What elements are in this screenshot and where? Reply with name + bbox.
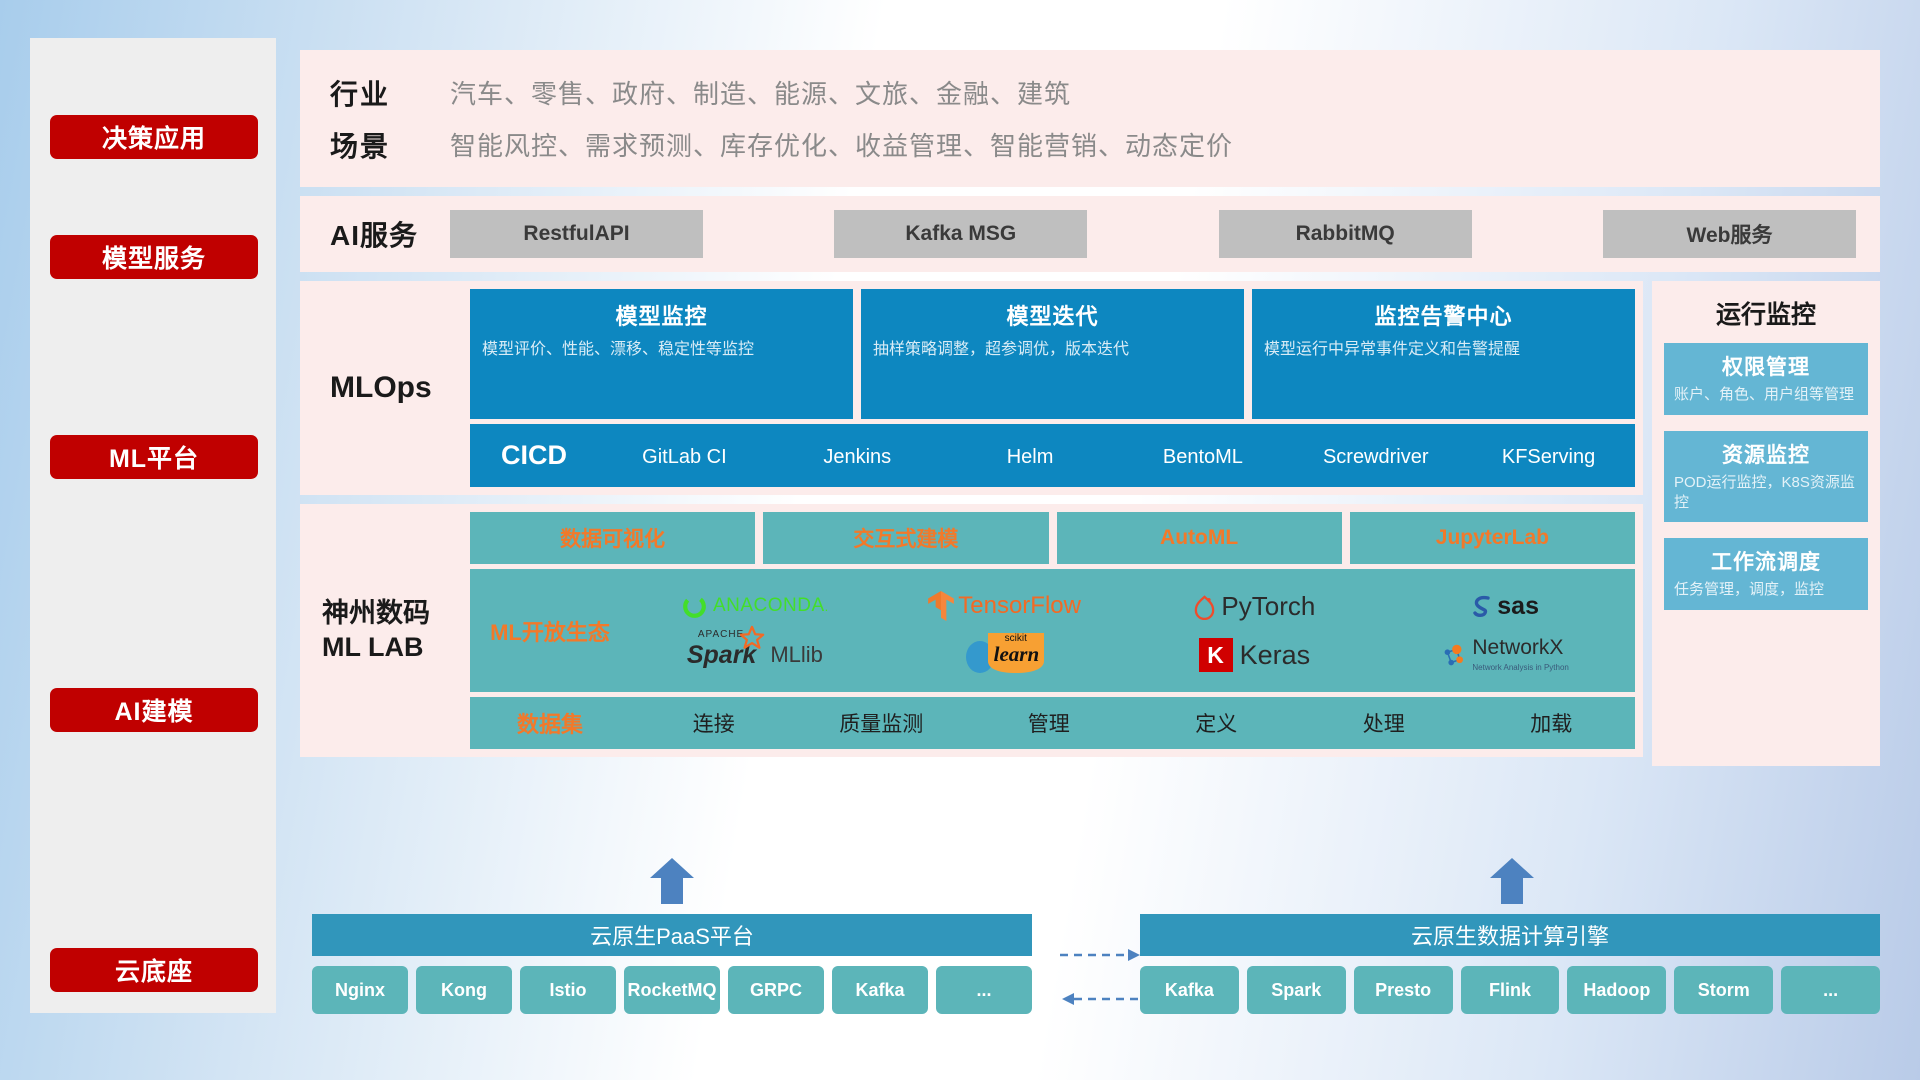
architecture-diagram: 决策应用 模型服务 ML平台 AI建模 云底座 行业 汽车、零售、政府、制造、能… <box>0 0 1920 1080</box>
cicd-item-screwdriver[interactable]: Screwdriver <box>1289 445 1462 467</box>
mlops-card-list: 模型监控 模型评价、性能、漂移、稳定性等监控 模型迭代 抽样策略调整，超参调优，… <box>470 289 1635 419</box>
ai-service-box-kafka-msg[interactable]: Kafka MSG <box>834 210 1087 258</box>
cicd-item-jenkins[interactable]: Jenkins <box>771 445 944 467</box>
cicd-item-helm[interactable]: Helm <box>944 445 1117 467</box>
rail-item-ml-platform[interactable]: ML平台 <box>50 435 258 479</box>
chip-rocketmq[interactable]: RocketMQ <box>624 966 720 1014</box>
ai-service-box-web-service[interactable]: Web服务 <box>1603 210 1856 258</box>
mlops-content: 模型监控 模型评价、性能、漂移、稳定性等监控 模型迭代 抽样策略调整，超参调优，… <box>470 289 1635 487</box>
monitor-card-title: 权限管理 <box>1674 351 1858 381</box>
mlops-card-desc: 抽样策略调整，超参调优，版本迭代 <box>873 339 1232 361</box>
cloud-data-engine-header: 云原生数据计算引擎 <box>1140 914 1880 956</box>
ml-ecosystem-label: ML开放生态 <box>470 615 630 647</box>
chip-presto[interactable]: Presto <box>1354 966 1453 1014</box>
industry-row: 行业 汽车、零售、政府、制造、能源、文旅、金融、建筑 <box>330 67 1880 119</box>
industry-band: 行业 汽车、零售、政府、制造、能源、文旅、金融、建筑 场景 智能风控、需求预测、… <box>300 50 1880 187</box>
ml-lab-tool-automl[interactable]: AutoML <box>1057 512 1342 564</box>
mlops-card-model-iteration[interactable]: 模型迭代 抽样策略调整，超参调优，版本迭代 <box>861 289 1244 419</box>
pytorch-logo-icon: PyTorch <box>1193 591 1315 622</box>
cicd-item-list: GitLab CI Jenkins Helm BentoML Screwdriv… <box>598 445 1635 467</box>
dataset-item-load[interactable]: 加载 <box>1468 708 1636 738</box>
cloud-paas-header: 云原生PaaS平台 <box>312 914 1032 956</box>
industry-label: 行业 <box>330 73 450 113</box>
ai-service-label: AI服务 <box>330 214 450 254</box>
rail-item-cloud-base[interactable]: 云底座 <box>50 948 258 992</box>
tensorflow-logo-icon: TensorFlow <box>928 591 1081 621</box>
mlops-card-model-monitoring[interactable]: 模型监控 模型评价、性能、漂移、稳定性等监控 <box>470 289 853 419</box>
spark-mllib-logo-icon: APACHE Spark MLlib <box>687 641 823 670</box>
monitor-card-desc: POD运行监控，K8S资源监控 <box>1674 473 1858 513</box>
chip-istio[interactable]: Istio <box>520 966 616 1014</box>
ml-lab-content: 数据可视化 交互式建模 AutoML JupyterLab ML开放生态 <box>470 512 1635 749</box>
main-stack: 行业 汽车、零售、政府、制造、能源、文旅、金融、建筑 场景 智能风控、需求预测、… <box>300 50 1880 766</box>
chip-grpc[interactable]: GRPC <box>728 966 824 1014</box>
dataset-item-define[interactable]: 定义 <box>1133 708 1301 738</box>
rail-label: ML平台 <box>109 439 199 475</box>
monitor-card-workflow[interactable]: 工作流调度 任务管理，调度，监控 <box>1664 538 1868 610</box>
dataset-item-list: 连接 质量监测 管理 定义 处理 加载 <box>630 708 1635 738</box>
chip-flink[interactable]: Flink <box>1461 966 1560 1014</box>
chip-more-engine[interactable]: ... <box>1781 966 1880 1014</box>
mlops-band: MLOps 模型监控 模型评价、性能、漂移、稳定性等监控 模型迭代 抽样策略调整… <box>300 281 1643 495</box>
dataset-label: 数据集 <box>470 707 630 739</box>
ai-service-box-list: RestfulAPI Kafka MSG RabbitMQ Web服务 <box>450 210 1880 258</box>
rail-label: 云底座 <box>115 952 193 988</box>
networkx-logo-icon: NetworkX Network Analysis in Python <box>1439 637 1569 674</box>
ml-ecosystem-row: ML开放生态 ANACONDA. <box>470 569 1635 692</box>
dataset-item-connect[interactable]: 连接 <box>630 708 798 738</box>
chip-nginx[interactable]: Nginx <box>312 966 408 1014</box>
dataset-item-manage[interactable]: 管理 <box>965 708 1133 738</box>
mlops-card-desc: 模型运行中异常事件定义和告警提醒 <box>1264 339 1623 361</box>
ml-lab-label-line2: ML LAB <box>322 632 424 662</box>
cicd-row: CICD GitLab CI Jenkins Helm BentoML Scre… <box>470 424 1635 487</box>
cloud-paas-column: 云原生PaaS平台 Nginx Kong Istio RocketMQ GRPC… <box>312 914 1032 1014</box>
rail-item-decision-app[interactable]: 决策应用 <box>50 115 258 159</box>
cicd-item-kfserving[interactable]: KFServing <box>1462 445 1635 467</box>
rail-label: 模型服务 <box>102 239 206 275</box>
keras-logo-icon: K Keras <box>1199 638 1311 672</box>
cloud-foundation-section: 云原生PaaS平台 Nginx Kong Istio RocketMQ GRPC… <box>300 886 1880 1036</box>
monitor-card-desc: 账户、角色、用户组等管理 <box>1674 385 1858 405</box>
runtime-monitor-panel: 运行监控 权限管理 账户、角色、用户组等管理 资源监控 POD运行监控，K8S资… <box>1652 281 1880 766</box>
cloud-data-engine-chip-list: Kafka Spark Presto Flink Hadoop Storm ..… <box>1140 966 1880 1014</box>
chip-more-paas[interactable]: ... <box>936 966 1032 1014</box>
ml-lab-tool-list: 数据可视化 交互式建模 AutoML JupyterLab <box>470 512 1635 564</box>
platform-left-column: MLOps 模型监控 模型评价、性能、漂移、稳定性等监控 模型迭代 抽样策略调整… <box>300 281 1643 766</box>
scenario-row: 场景 智能风控、需求预测、库存优化、收益管理、智能营销、动态定价 <box>330 119 1880 171</box>
cicd-item-gitlab-ci[interactable]: GitLab CI <box>598 445 771 467</box>
ml-ecosystem-logo-grid: ANACONDA. TensorFlow <box>630 582 1635 680</box>
mlops-card-title: 监控告警中心 <box>1264 299 1623 331</box>
left-rail: 决策应用 模型服务 ML平台 AI建模 云底座 <box>30 38 276 1013</box>
chip-storm[interactable]: Storm <box>1674 966 1773 1014</box>
industry-value: 汽车、零售、政府、制造、能源、文旅、金融、建筑 <box>450 74 1071 111</box>
ml-lab-tool-data-visualization[interactable]: 数据可视化 <box>470 512 755 564</box>
anaconda-logo-icon: ANACONDA. <box>681 593 829 620</box>
ai-service-box-restfulapi[interactable]: RestfulAPI <box>450 210 703 258</box>
mlops-label: MLOps <box>330 289 470 487</box>
rail-label: 决策应用 <box>102 119 206 155</box>
runtime-monitor-title: 运行监控 <box>1664 295 1868 331</box>
monitor-card-desc: 任务管理，调度，监控 <box>1674 580 1858 600</box>
mlops-card-alert-center[interactable]: 监控告警中心 模型运行中异常事件定义和告警提醒 <box>1252 289 1635 419</box>
ai-service-band: AI服务 RestfulAPI Kafka MSG RabbitMQ Web服务 <box>300 196 1880 272</box>
platform-middle: MLOps 模型监控 模型评价、性能、漂移、稳定性等监控 模型迭代 抽样策略调整… <box>300 281 1880 766</box>
scenario-value: 智能风控、需求预测、库存优化、收益管理、智能营销、动态定价 <box>450 126 1233 163</box>
sas-logo-icon: sas <box>1469 592 1539 621</box>
dashed-arrow-right-icon <box>1060 948 1142 967</box>
monitor-card-title: 资源监控 <box>1674 439 1858 469</box>
mlops-card-desc: 模型评价、性能、漂移、稳定性等监控 <box>482 339 841 361</box>
rail-item-ai-modeling[interactable]: AI建模 <box>50 688 258 732</box>
chip-hadoop[interactable]: Hadoop <box>1567 966 1666 1014</box>
chip-kafka[interactable]: Kafka <box>832 966 928 1014</box>
rail-label: AI建模 <box>114 692 193 728</box>
dataset-item-quality-monitor[interactable]: 质量监测 <box>798 708 966 738</box>
scikit-learn-logo-icon: scikit learn <box>963 631 1047 680</box>
up-arrow-data-engine-icon <box>1490 858 1534 904</box>
mlops-card-title: 模型监控 <box>482 299 841 331</box>
dataset-row: 数据集 连接 质量监测 管理 定义 处理 加载 <box>470 697 1635 749</box>
dashed-arrow-left-icon <box>1060 992 1142 1011</box>
ml-lab-label-line1: 神州数码 <box>322 598 430 628</box>
cloud-paas-chip-list: Nginx Kong Istio RocketMQ GRPC Kafka ... <box>312 966 1032 1014</box>
ai-service-box-rabbitmq[interactable]: RabbitMQ <box>1219 210 1472 258</box>
chip-spark[interactable]: Spark <box>1247 966 1346 1014</box>
ml-lab-label: 神州数码 ML LAB <box>322 512 470 749</box>
scenario-label: 场景 <box>330 125 450 165</box>
chip-kong[interactable]: Kong <box>416 966 512 1014</box>
monitor-card-title: 工作流调度 <box>1674 546 1858 576</box>
ml-lab-band: 神州数码 ML LAB 数据可视化 交互式建模 AutoML JupyterLa… <box>300 504 1643 757</box>
dataset-item-process[interactable]: 处理 <box>1300 708 1468 738</box>
chip-kafka-engine[interactable]: Kafka <box>1140 966 1239 1014</box>
up-arrow-paas-icon <box>650 858 694 904</box>
monitor-card-resource[interactable]: 资源监控 POD运行监控，K8S资源监控 <box>1664 431 1868 523</box>
cicd-item-bentoml[interactable]: BentoML <box>1116 445 1289 467</box>
rail-item-model-service[interactable]: 模型服务 <box>50 235 258 279</box>
cloud-data-engine-column: 云原生数据计算引擎 Kafka Spark Presto Flink Hadoo… <box>1140 914 1880 1014</box>
mlops-card-title: 模型迭代 <box>873 299 1232 331</box>
monitor-card-permission[interactable]: 权限管理 账户、角色、用户组等管理 <box>1664 343 1868 415</box>
cicd-title: CICD <box>470 440 598 471</box>
ml-lab-tool-interactive-modeling[interactable]: 交互式建模 <box>763 512 1048 564</box>
ml-lab-tool-jupyterlab[interactable]: JupyterLab <box>1350 512 1635 564</box>
